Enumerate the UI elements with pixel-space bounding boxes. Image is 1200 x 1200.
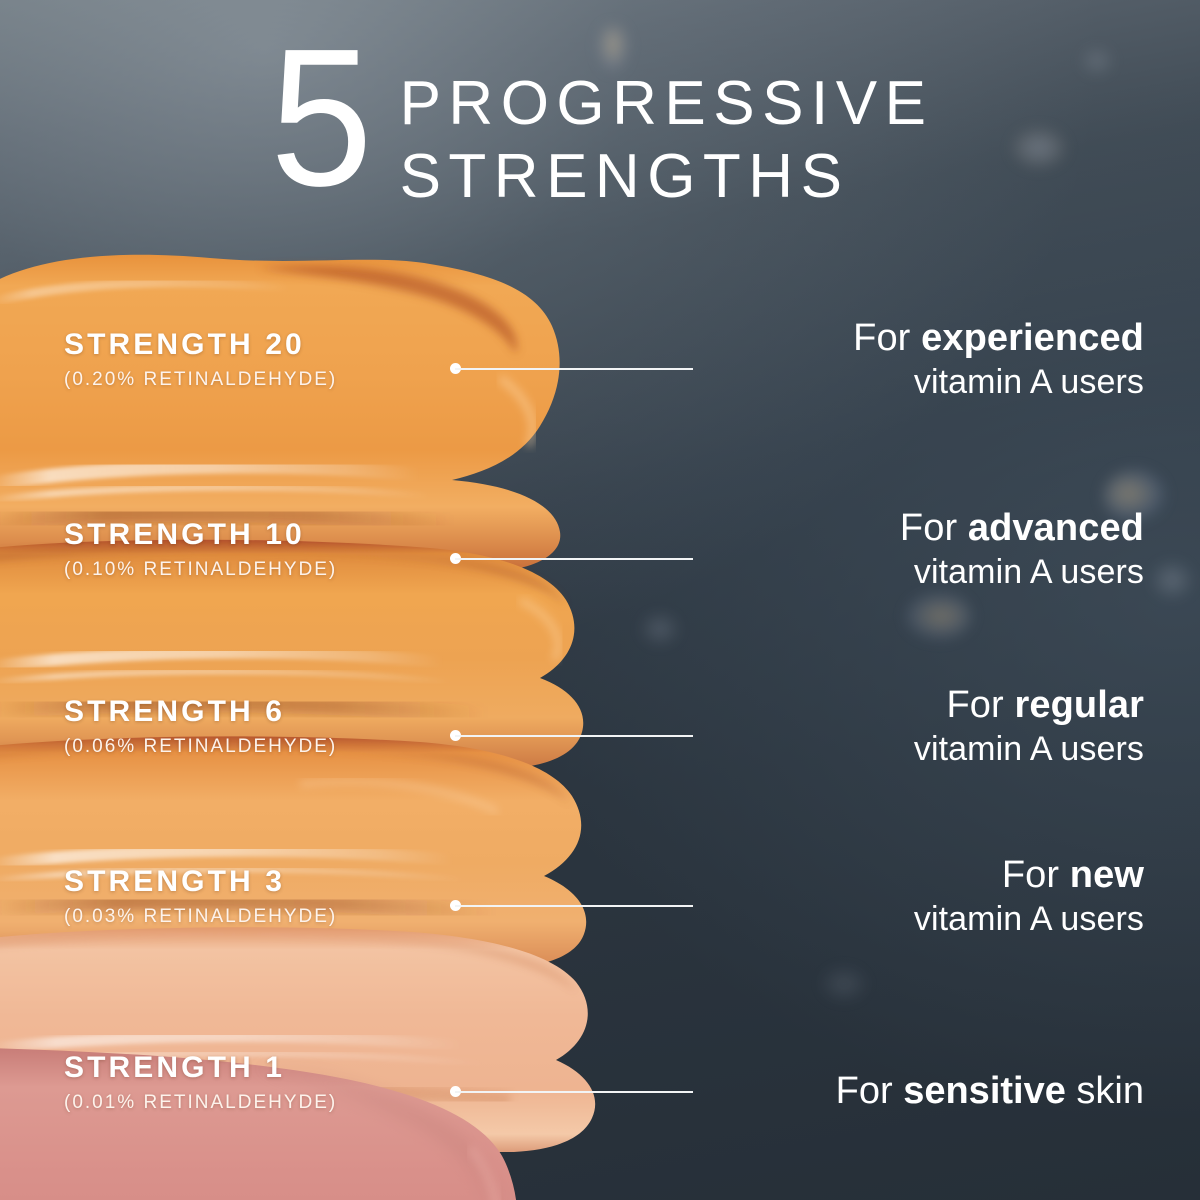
descriptor-6: For regular vitamin A users xyxy=(914,683,1144,770)
poster-canvas: 5 PROGRESSIVE STRENGTHS xyxy=(0,0,1200,1200)
headline-line-2: STRENGTHS xyxy=(400,141,934,214)
descriptor-line2-3: vitamin A users xyxy=(914,899,1144,940)
descriptor-emphasis-3: new xyxy=(1070,854,1144,896)
descriptor-emphasis-6: regular xyxy=(1014,684,1144,726)
strength-percent-10: (0.10% RETINALDEHYDE) xyxy=(64,560,337,579)
strength-percent-3: (0.03% RETINALDEHYDE) xyxy=(64,907,337,926)
bokeh-flare-5 xyxy=(1150,560,1194,600)
strength-title-3: STRENGTH 3 xyxy=(64,867,337,897)
descriptor-line1-3: For new xyxy=(914,853,1144,899)
bokeh-flare-4 xyxy=(905,592,971,640)
connector-rule-10 xyxy=(455,558,693,560)
descriptor-emphasis-20: experienced xyxy=(921,317,1144,359)
strength-label-block-10: STRENGTH 10 (0.10% RETINALDEHYDE) xyxy=(64,520,337,579)
descriptor-20: For experienced vitamin A users xyxy=(853,316,1144,403)
descriptor-suffix-1: skin xyxy=(1066,1070,1144,1112)
strength-label-block-1: STRENGTH 1 (0.01% RETINALDEHYDE) xyxy=(64,1053,337,1112)
connector-line-1 xyxy=(450,1081,698,1101)
headline-text: PROGRESSIVE STRENGTHS xyxy=(400,46,934,213)
connector-rule-6 xyxy=(455,735,693,737)
descriptor-prefix-3: For xyxy=(1002,854,1070,896)
headline-line-1: PROGRESSIVE xyxy=(400,68,934,141)
descriptor-line1-6: For regular xyxy=(914,683,1144,729)
headline-numeral: 5 xyxy=(270,40,371,197)
connector-line-10 xyxy=(450,548,698,568)
connector-line-6 xyxy=(450,725,698,745)
descriptor-emphasis-1: sensitive xyxy=(903,1070,1066,1112)
strength-title-6: STRENGTH 6 xyxy=(64,697,337,727)
strength-percent-1: (0.01% RETINALDEHYDE) xyxy=(64,1093,337,1112)
connector-line-20 xyxy=(450,358,698,378)
descriptor-line2-10: vitamin A users xyxy=(900,552,1144,593)
connector-rule-3 xyxy=(455,905,693,907)
strength-label-block-3: STRENGTH 3 (0.03% RETINALDEHYDE) xyxy=(64,867,337,926)
descriptor-emphasis-10: advanced xyxy=(968,507,1144,549)
descriptor-prefix-1: For xyxy=(836,1070,904,1112)
strength-title-10: STRENGTH 10 xyxy=(64,520,337,550)
bokeh-flare-8 xyxy=(820,966,868,1002)
descriptor-line2-20: vitamin A users xyxy=(853,362,1144,403)
descriptor-line1-10: For advanced xyxy=(900,506,1144,552)
descriptor-line2-6: vitamin A users xyxy=(914,729,1144,770)
connector-line-3 xyxy=(450,895,698,915)
descriptor-3: For new vitamin A users xyxy=(914,853,1144,940)
strength-label-block-6: STRENGTH 6 (0.06% RETINALDEHYDE) xyxy=(64,697,337,756)
strength-label-block-20: STRENGTH 20 (0.20% RETINALDEHYDE) xyxy=(64,330,337,389)
descriptor-1: For sensitive skin xyxy=(836,1069,1144,1115)
strength-percent-20: (0.20% RETINALDEHYDE) xyxy=(64,370,337,389)
descriptor-prefix-6: For xyxy=(947,684,1015,726)
connector-rule-20 xyxy=(455,368,693,370)
page-header: 5 PROGRESSIVE STRENGTHS xyxy=(0,46,1200,213)
strength-title-1: STRENGTH 1 xyxy=(64,1053,337,1083)
bokeh-flare-6 xyxy=(640,612,680,646)
descriptor-10: For advanced vitamin A users xyxy=(900,506,1144,593)
strength-title-20: STRENGTH 20 xyxy=(64,330,337,360)
descriptor-prefix-20: For xyxy=(853,317,921,359)
descriptor-prefix-10: For xyxy=(900,507,968,549)
descriptor-line1-20: For experienced xyxy=(853,316,1144,362)
connector-rule-1 xyxy=(455,1091,693,1093)
strength-percent-6: (0.06% RETINALDEHYDE) xyxy=(64,737,337,756)
descriptor-line1-1: For sensitive skin xyxy=(836,1069,1144,1115)
